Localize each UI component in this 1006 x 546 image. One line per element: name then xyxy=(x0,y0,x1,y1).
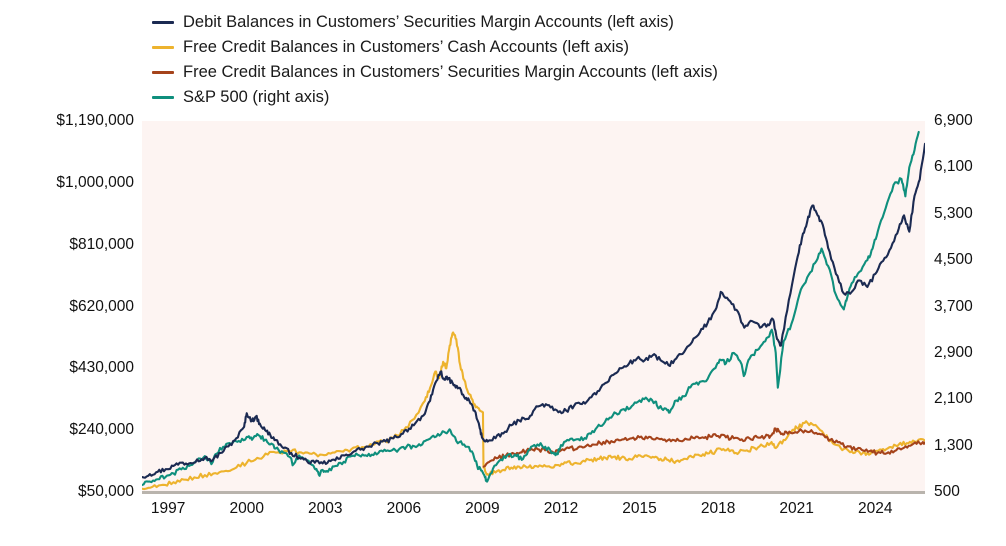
y-axis-right-tick: 4,500 xyxy=(934,251,1006,269)
legend-item-sp500: S&P 500 (right axis) xyxy=(152,85,932,110)
x-axis-baseline xyxy=(142,491,925,494)
y-axis-right-tick: 6,100 xyxy=(934,158,1006,176)
legend-swatch-sp500 xyxy=(152,96,174,99)
chart-root: Debit Balances in Customers’ Securities … xyxy=(0,0,1006,546)
x-axis-tick: 2003 xyxy=(308,500,342,518)
y-axis-left-tick: $810,000 xyxy=(14,236,134,254)
legend-swatch-debit xyxy=(152,21,174,24)
y-axis-left-tick: $430,000 xyxy=(14,359,134,377)
legend-label-debit: Debit Balances in Customers’ Securities … xyxy=(183,14,674,31)
x-axis-tick: 2015 xyxy=(622,500,656,518)
x-axis-tick: 2021 xyxy=(779,500,813,518)
chart-legend: Debit Balances in Customers’ Securities … xyxy=(152,10,932,110)
series-line-debit xyxy=(142,144,925,478)
x-axis-tick: 2006 xyxy=(387,500,421,518)
y-axis-left-labels: $50,000$240,000$430,000$620,000$810,000$… xyxy=(0,0,134,546)
y-axis-right-tick: 2,100 xyxy=(934,390,1006,408)
x-axis-tick: 2000 xyxy=(229,500,263,518)
x-axis-tick: 2012 xyxy=(544,500,578,518)
y-axis-right-tick: 3,700 xyxy=(934,298,1006,316)
x-axis-tick: 2024 xyxy=(858,500,892,518)
x-axis-tick: 1997 xyxy=(151,500,185,518)
legend-label-free-cash: Free Credit Balances in Customers’ Cash … xyxy=(183,39,629,56)
y-axis-left-tick: $240,000 xyxy=(14,421,134,439)
y-axis-right-labels: 5001,3002,1002,9003,7004,5005,3006,1006,… xyxy=(934,0,1006,546)
legend-item-free-margin: Free Credit Balances in Customers’ Secur… xyxy=(152,60,932,85)
legend-swatch-free-margin xyxy=(152,71,174,74)
x-axis-tick: 2009 xyxy=(465,500,499,518)
y-axis-right-tick: 1,300 xyxy=(934,437,1006,455)
y-axis-right-tick: 500 xyxy=(934,483,1006,501)
x-axis-tick: 2018 xyxy=(701,500,735,518)
series-line-free_margin xyxy=(484,428,925,466)
y-axis-left-tick: $1,000,000 xyxy=(14,174,134,192)
y-axis-right-tick: 2,900 xyxy=(934,344,1006,362)
legend-item-free-cash: Free Credit Balances in Customers’ Cash … xyxy=(152,35,932,60)
y-axis-right-tick: 6,900 xyxy=(934,112,1006,130)
chart-series-canvas xyxy=(142,121,925,492)
y-axis-left-tick: $50,000 xyxy=(14,483,134,501)
y-axis-left-tick: $1,190,000 xyxy=(14,112,134,130)
y-axis-left-tick: $620,000 xyxy=(14,298,134,316)
legend-swatch-free-cash xyxy=(152,46,174,49)
legend-label-free-margin: Free Credit Balances in Customers’ Secur… xyxy=(183,64,718,81)
legend-item-debit: Debit Balances in Customers’ Securities … xyxy=(152,10,932,35)
legend-label-sp500: S&P 500 (right axis) xyxy=(183,89,329,106)
y-axis-right-tick: 5,300 xyxy=(934,205,1006,223)
